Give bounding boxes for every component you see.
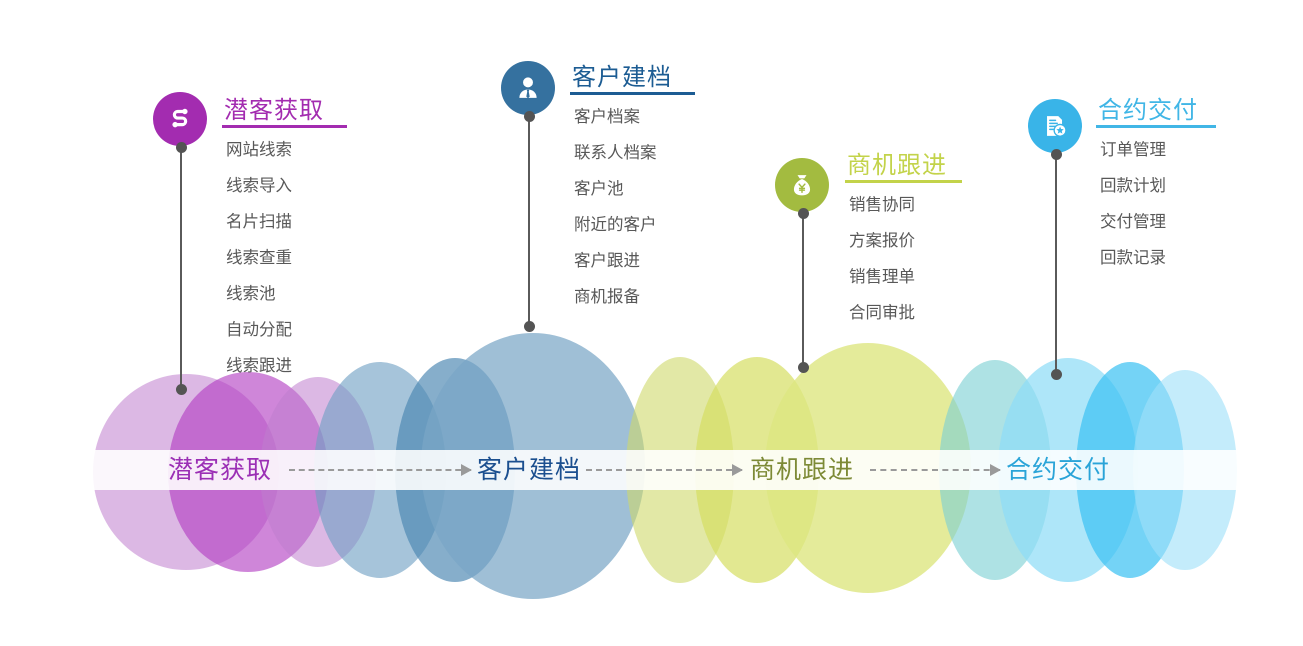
delivery-connector-dot-bottom: [1051, 369, 1062, 380]
stage-title-contract-delivery: 合约交付: [1098, 90, 1198, 130]
timeline-label-lead-acquisition: 潜客获取: [168, 450, 272, 490]
delivery-connector-dot-top: [1051, 149, 1062, 160]
timeline-arrow-2-head: [732, 464, 743, 476]
timeline-arrow-2: [586, 469, 742, 471]
list-item[interactable]: 回款记录: [1100, 240, 1166, 276]
contract-seal-icon: [1040, 111, 1070, 141]
delivery-connector-line: [1055, 153, 1057, 375]
stage-column-contract-delivery: 合约交付 订单管理 回款计划 交付管理 回款记录: [0, 0, 1303, 400]
timeline-arrow-1-head: [461, 464, 472, 476]
timeline-label-customer-profiling: 客户建档: [477, 450, 581, 490]
timeline-arrow-3-dash: [870, 469, 1000, 471]
stage-title-rule-contract-delivery: [1096, 125, 1216, 128]
crm-process-diagram: 潜客获取 客户建档 商机跟进 合约交付 潜客获取: [0, 0, 1303, 646]
stage-list-contract-delivery: 订单管理 回款计划 交付管理 回款记录: [1100, 132, 1166, 276]
list-item[interactable]: 回款计划: [1100, 168, 1166, 204]
contract-seal-icon-badge[interactable]: [1028, 99, 1082, 153]
timeline-arrow-3-head: [990, 464, 1001, 476]
timeline-arrow-1: [289, 469, 471, 471]
timeline-label-opportunity-follow-up: 商机跟进: [750, 450, 854, 490]
timeline-label-contract-delivery: 合约交付: [1006, 450, 1110, 490]
list-item[interactable]: 交付管理: [1100, 204, 1166, 240]
list-item[interactable]: 订单管理: [1100, 132, 1166, 168]
timeline-arrow-3: [870, 469, 1000, 471]
timeline-arrow-1-dash: [289, 469, 471, 471]
timeline-arrow-2-dash: [586, 469, 742, 471]
process-timeline: 潜客获取 客户建档 商机跟进 合约交付: [0, 450, 1303, 490]
